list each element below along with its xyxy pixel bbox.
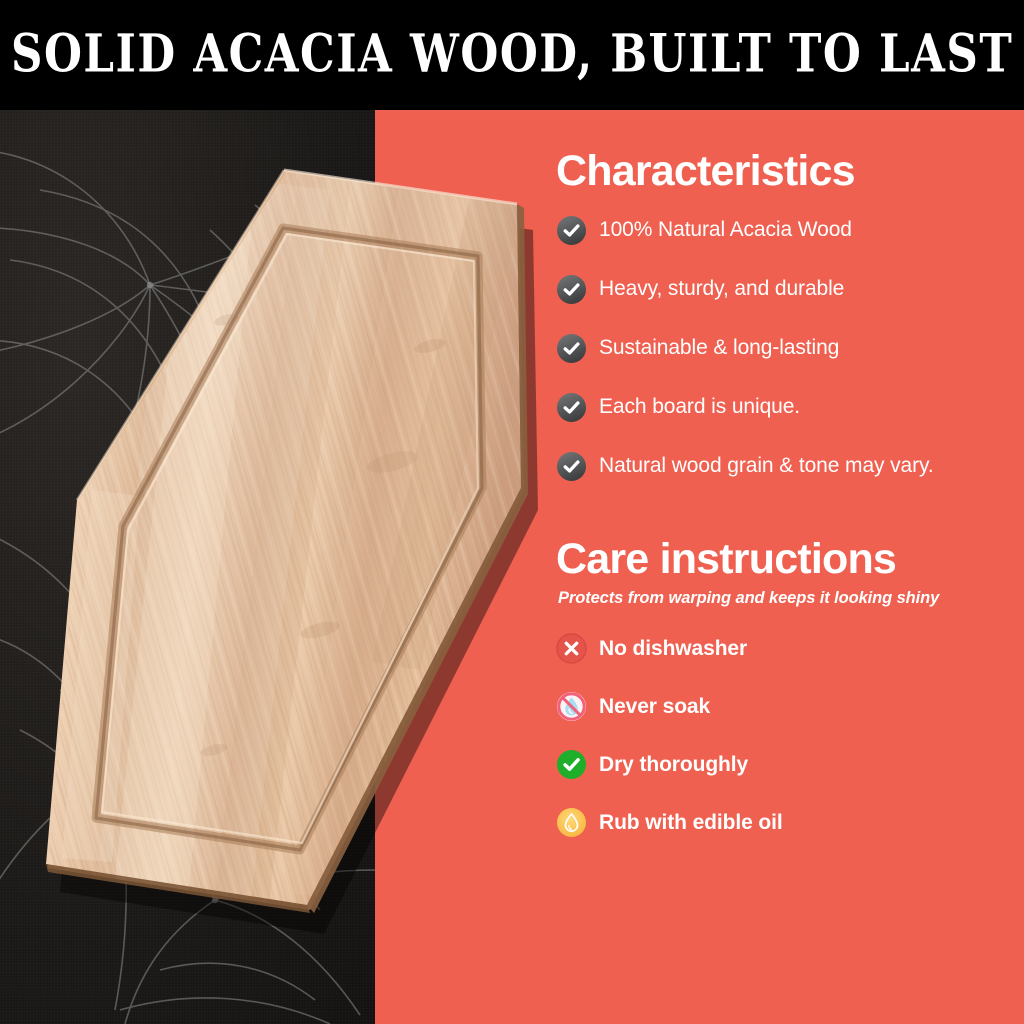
list-item-label: Dry thoroughly [599,753,748,777]
characteristics-section: Characteristics 100% Natural Acacia Wood [556,150,1008,482]
list-item-label: Sustainable & long-lasting [599,336,839,360]
list-item-label: 100% Natural Acacia Wood [599,218,852,242]
list-item: Each board is unique. [556,392,1008,423]
care-instructions-section: Care instructions Protects from warping … [556,538,1008,838]
oil-droplet-icon [556,807,587,838]
list-item-label: Heavy, sturdy, and durable [599,277,844,301]
list-item-label: Each board is unique. [599,395,800,419]
list-item: 100% Natural Acacia Wood [556,215,1008,246]
list-item-label: Never soak [599,695,710,719]
check-circle-gray-icon [556,392,587,423]
list-item-label: Rub with edible oil [599,811,783,835]
check-circle-gray-icon [556,333,587,364]
no-soak-droplet-icon [556,691,587,722]
list-item: No dishwasher [556,633,1008,664]
header-bar: SOLID ACACIA WOOD, BUILT TO LAST [0,0,1024,110]
list-item-label: No dishwasher [599,637,747,661]
characteristics-list: 100% Natural Acacia Wood Heavy, sturdy, … [556,215,1008,482]
x-circle-icon [556,633,587,664]
list-item: Never soak [556,691,1008,722]
spiderweb-pattern-icon [0,110,375,1024]
list-item: Heavy, sturdy, and durable [556,274,1008,305]
page-title: SOLID ACACIA WOOD, BUILT TO LAST [11,29,1013,81]
check-circle-green-icon [556,749,587,780]
care-instructions-heading: Care instructions [556,538,1008,581]
care-instructions-list: No dishwasher Never soak [556,633,1008,838]
check-circle-gray-icon [556,451,587,482]
characteristics-heading: Characteristics [556,150,1008,193]
list-item: Dry thoroughly [556,749,1008,780]
infographic-page: SOLID ACACIA WOOD, BUILT TO LAST Charact… [0,0,1024,1024]
content-column: Characteristics 100% Natural Acacia Wood [556,150,1008,838]
left-background-panel [0,110,375,1024]
list-item-label: Natural wood grain & tone may vary. [599,454,934,478]
list-item: Rub with edible oil [556,807,1008,838]
list-item: Natural wood grain & tone may vary. [556,451,1008,482]
care-instructions-subtitle: Protects from warping and keeps it looki… [558,589,1008,607]
check-circle-gray-icon [556,215,587,246]
list-item: Sustainable & long-lasting [556,333,1008,364]
check-circle-gray-icon [556,274,587,305]
